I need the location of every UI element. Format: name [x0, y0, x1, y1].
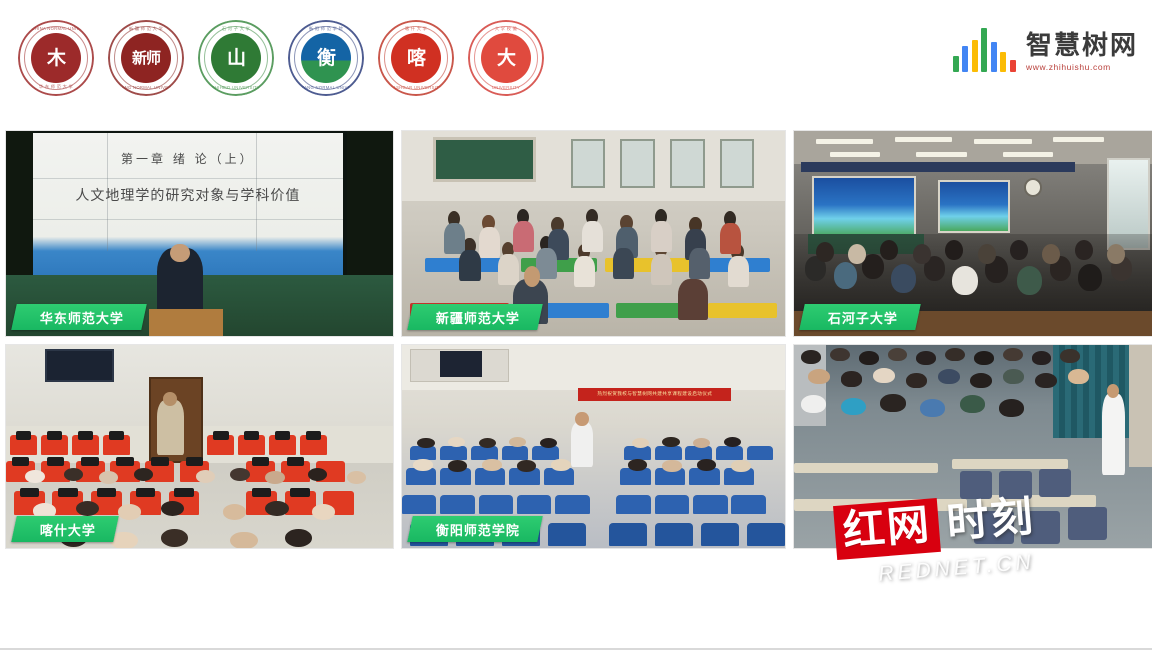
watermark-subtitle: REDNET.CN — [878, 550, 1043, 587]
photo-student-standing-question — [794, 345, 1152, 548]
crest-arc-top: 新 疆 师 范 大 学 — [108, 26, 184, 32]
slide-subtitle: 人文地理学的研究对象与学科价值 — [33, 185, 343, 205]
crest-emblem: 山 — [211, 33, 261, 83]
crest-arc-bottom: 华 东 师 范 大 学 — [18, 84, 94, 90]
crest-arc-bottom: UNIVERSITY — [468, 85, 544, 90]
panel-label-badge: 衡阳师范学院 — [407, 516, 543, 542]
panel-label-text: 石河子大学 — [828, 308, 898, 327]
crest-arc-top: 大 学 校 徽 — [468, 26, 544, 32]
crest-arc-bottom: SHIHEZI UNIVERSITY — [198, 85, 274, 90]
header-bar: EAST CHINA NORMAL UNIVERSITY 华 东 师 范 大 学… — [0, 0, 1152, 120]
crest-emblem: 木 — [31, 33, 81, 83]
panel-kashgar-university[interactable]: 喀什大学 — [5, 344, 394, 549]
panel-hengyang-normal-university[interactable]: 热烈祝贺我校与智慧树网共建共享课程建设启动仪式 — [401, 344, 786, 549]
university-crest-strip: EAST CHINA NORMAL UNIVERSITY 华 东 师 范 大 学… — [18, 20, 544, 96]
crest-emblem: 衡 — [301, 33, 351, 83]
panel-xinjiang-normal-university[interactable]: 新疆师范大学 — [401, 130, 786, 337]
panel-label-badge: 华东师范大学 — [11, 304, 147, 330]
slide-title: 第一章 绪 论（上） — [33, 150, 343, 167]
panel-label-badge: 石河子大学 — [799, 304, 921, 330]
crest-arc-bottom: KASHGAR UNIVERSITY — [378, 85, 454, 90]
crest-xinjiang-normal-university: 新 疆 师 范 大 学 XINJIANG NORMAL UNIVERSITY 新… — [108, 20, 184, 96]
brand-name: 智慧树网 — [1026, 33, 1138, 60]
slide-page: EAST CHINA NORMAL UNIVERSITY 华 东 师 范 大 学… — [0, 0, 1152, 650]
crest-east-china-normal-university: EAST CHINA NORMAL UNIVERSITY 华 东 师 范 大 学… — [18, 20, 94, 96]
panel-label-text: 衡阳师范学院 — [436, 520, 520, 539]
panel-label-badge: 喀什大学 — [11, 516, 119, 542]
photo-grid: 第一章 绪 论（上） 人文地理学的研究对象与学科价值 华东师范大学 — [5, 130, 1147, 549]
crest-hengyang-normal-university: 衡 阳 师 范 学 院 HENGYANG NORMAL UNIVERSITY 衡 — [288, 20, 364, 96]
crest-arc-top: 衡 阳 师 范 学 院 — [288, 26, 364, 32]
panel-label-text: 喀什大学 — [40, 520, 96, 539]
panel-east-china-normal-university[interactable]: 第一章 绪 论（上） 人文地理学的研究对象与学科价值 华东师范大学 — [5, 130, 394, 337]
crest-arc-bottom: HENGYANG NORMAL UNIVERSITY — [288, 85, 364, 90]
panel-label-text: 新疆师范大学 — [436, 308, 520, 327]
zhihuishu-brand-logo: 智慧树网 www.zhihuishu.com — [953, 28, 1138, 72]
crest-arc-top: EAST CHINA NORMAL UNIVERSITY — [18, 26, 94, 31]
panel-shihezi-university[interactable]: 石河子大学 — [793, 130, 1152, 337]
brand-url: www.zhihuishu.com — [1026, 62, 1111, 72]
crest-shihezi-university: 石 河 子 大 学 SHIHEZI UNIVERSITY 山 — [198, 20, 274, 96]
crest-arc-top: 喀 什 大 学 — [378, 26, 454, 32]
panel-lecture-hall[interactable] — [793, 344, 1152, 549]
brand-text-block: 智慧树网 www.zhihuishu.com — [1026, 33, 1138, 72]
panel-label-badge: 新疆师范大学 — [407, 304, 543, 330]
ceremony-banner: 热烈祝贺我校与智慧树网共建共享课程建设启动仪式 — [578, 388, 731, 401]
crest-emblem: 新师 — [121, 33, 171, 83]
panel-label-text: 华东师范大学 — [40, 308, 124, 327]
crest-emblem: 大 — [481, 33, 531, 83]
crest-arc-bottom: XINJIANG NORMAL UNIVERSITY — [108, 85, 184, 90]
crest-kashgar-university: 喀 什 大 学 KASHGAR UNIVERSITY 喀 — [378, 20, 454, 96]
crest-partner-university: 大 学 校 徽 UNIVERSITY 大 — [468, 20, 544, 96]
brand-bars-icon — [953, 28, 1016, 72]
crest-emblem: 喀 — [391, 33, 441, 83]
crest-arc-top: 石 河 子 大 学 — [198, 26, 274, 32]
